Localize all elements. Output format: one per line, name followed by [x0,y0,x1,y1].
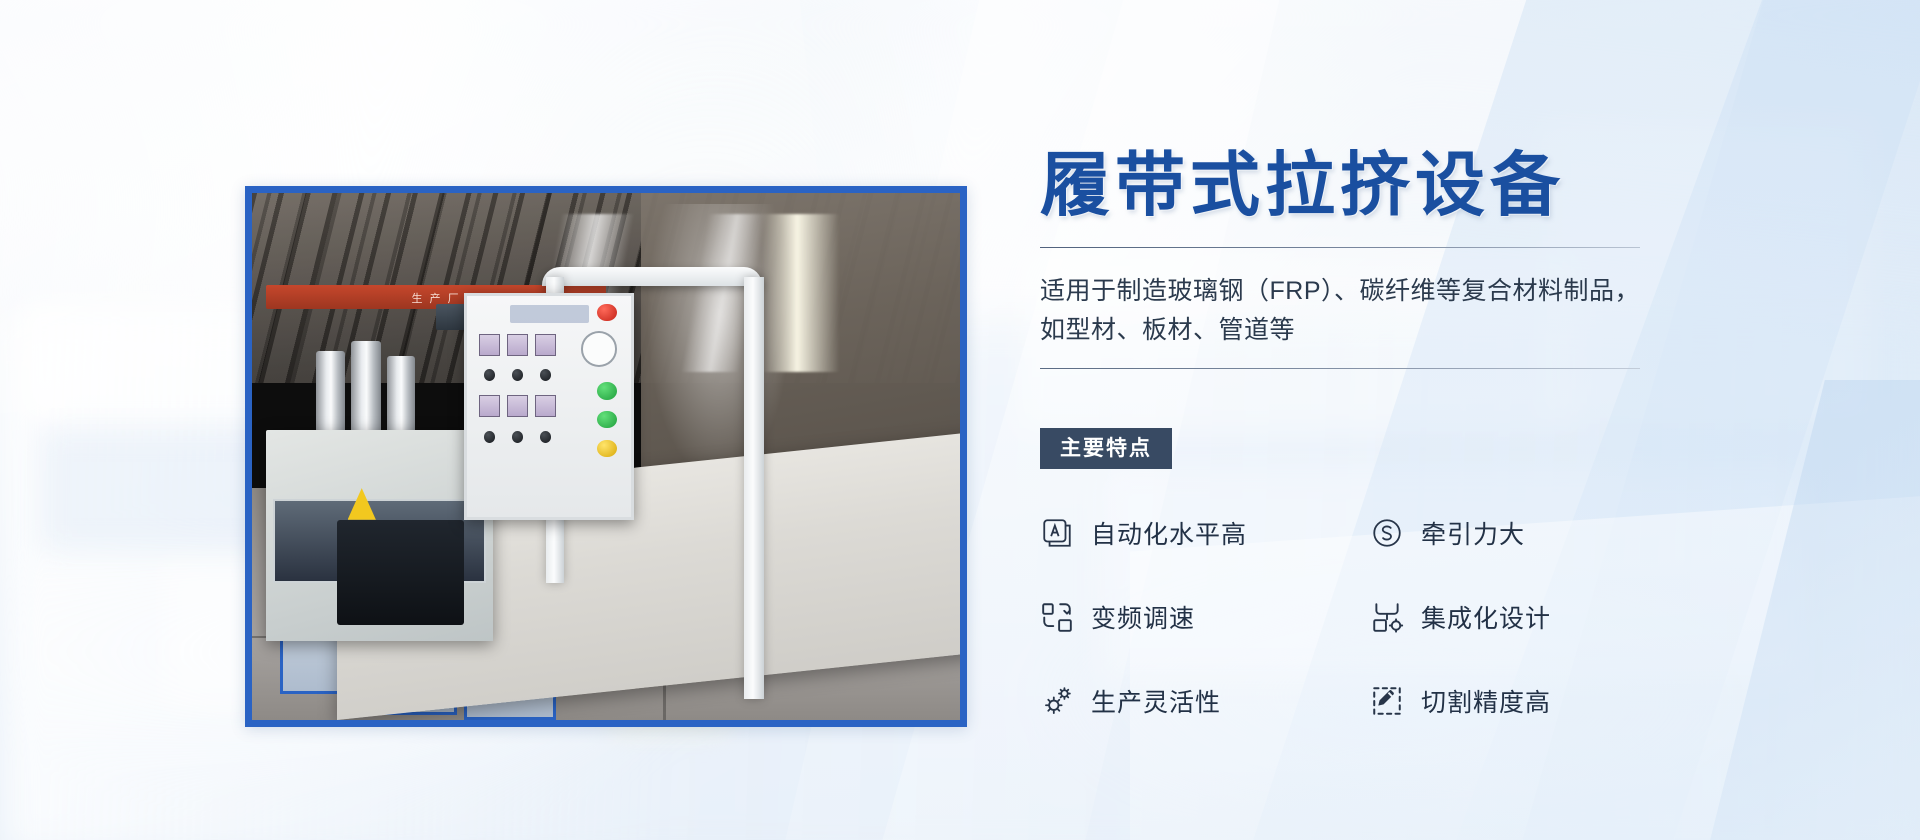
automation-square-a-icon [1040,516,1074,550]
frequency-nodes-icon [1040,600,1074,634]
feature-label: 生产灵活性 [1091,683,1221,719]
photo-machine-die-section [337,520,464,625]
feature-item[interactable]: 变频调速 [1040,599,1370,635]
status-badge: 主要特点 [1040,428,1172,469]
traction-spiral-circle-icon [1370,516,1404,550]
feature-item[interactable]: 切割精度高 [1370,683,1680,719]
photo-panel-lamp-green [597,411,617,429]
photo-panel-logo [510,305,589,323]
feature-item[interactable]: 集成化设计 [1370,599,1680,635]
description-divider [1040,368,1640,369]
feature-label: 自动化水平高 [1091,515,1247,551]
product-photo-card[interactable]: 生 产 厂 [245,186,967,727]
photo-control-panel [464,293,634,520]
title-divider [1040,247,1640,248]
product-description: 适用于制造玻璃钢（FRP）、碳纤维等复合材料制品，如型材、板材、管道等 [1040,272,1652,350]
feature-label: 变频调速 [1091,599,1195,635]
feature-list: 自动化水平高 牵引力大 变频调速 [1040,515,1680,719]
feature-item[interactable]: 生产灵活性 [1040,683,1370,719]
photo-panel-lamp-red [597,304,617,322]
integrated-design-nodes-icon [1370,600,1404,634]
feature-label: 集成化设计 [1421,599,1551,635]
cut-precision-pen-icon [1370,684,1404,718]
feature-item[interactable]: 自动化水平高 [1040,515,1370,551]
gears-flexibility-icon [1040,684,1074,718]
photo-gantry-beam [542,267,761,286]
photo-panel-lamp-green [597,382,617,400]
page-title: 履带式拉挤设备 [1040,150,1740,221]
photo-gantry-column [744,277,764,699]
photo-panel-gauge [581,331,617,366]
banner-content: 履带式拉挤设备 适用于制造玻璃钢（FRP）、碳纤维等复合材料制品，如型材、板材、… [1040,150,1740,369]
photo-panel-lamp-yellow [597,440,617,458]
feature-label: 切割精度高 [1421,683,1551,719]
product-photo: 生 产 厂 [252,193,960,720]
feature-label: 牵引力大 [1421,515,1525,551]
product-banner: 生 产 厂 [0,0,1920,840]
feature-item[interactable]: 牵引力大 [1370,515,1680,551]
